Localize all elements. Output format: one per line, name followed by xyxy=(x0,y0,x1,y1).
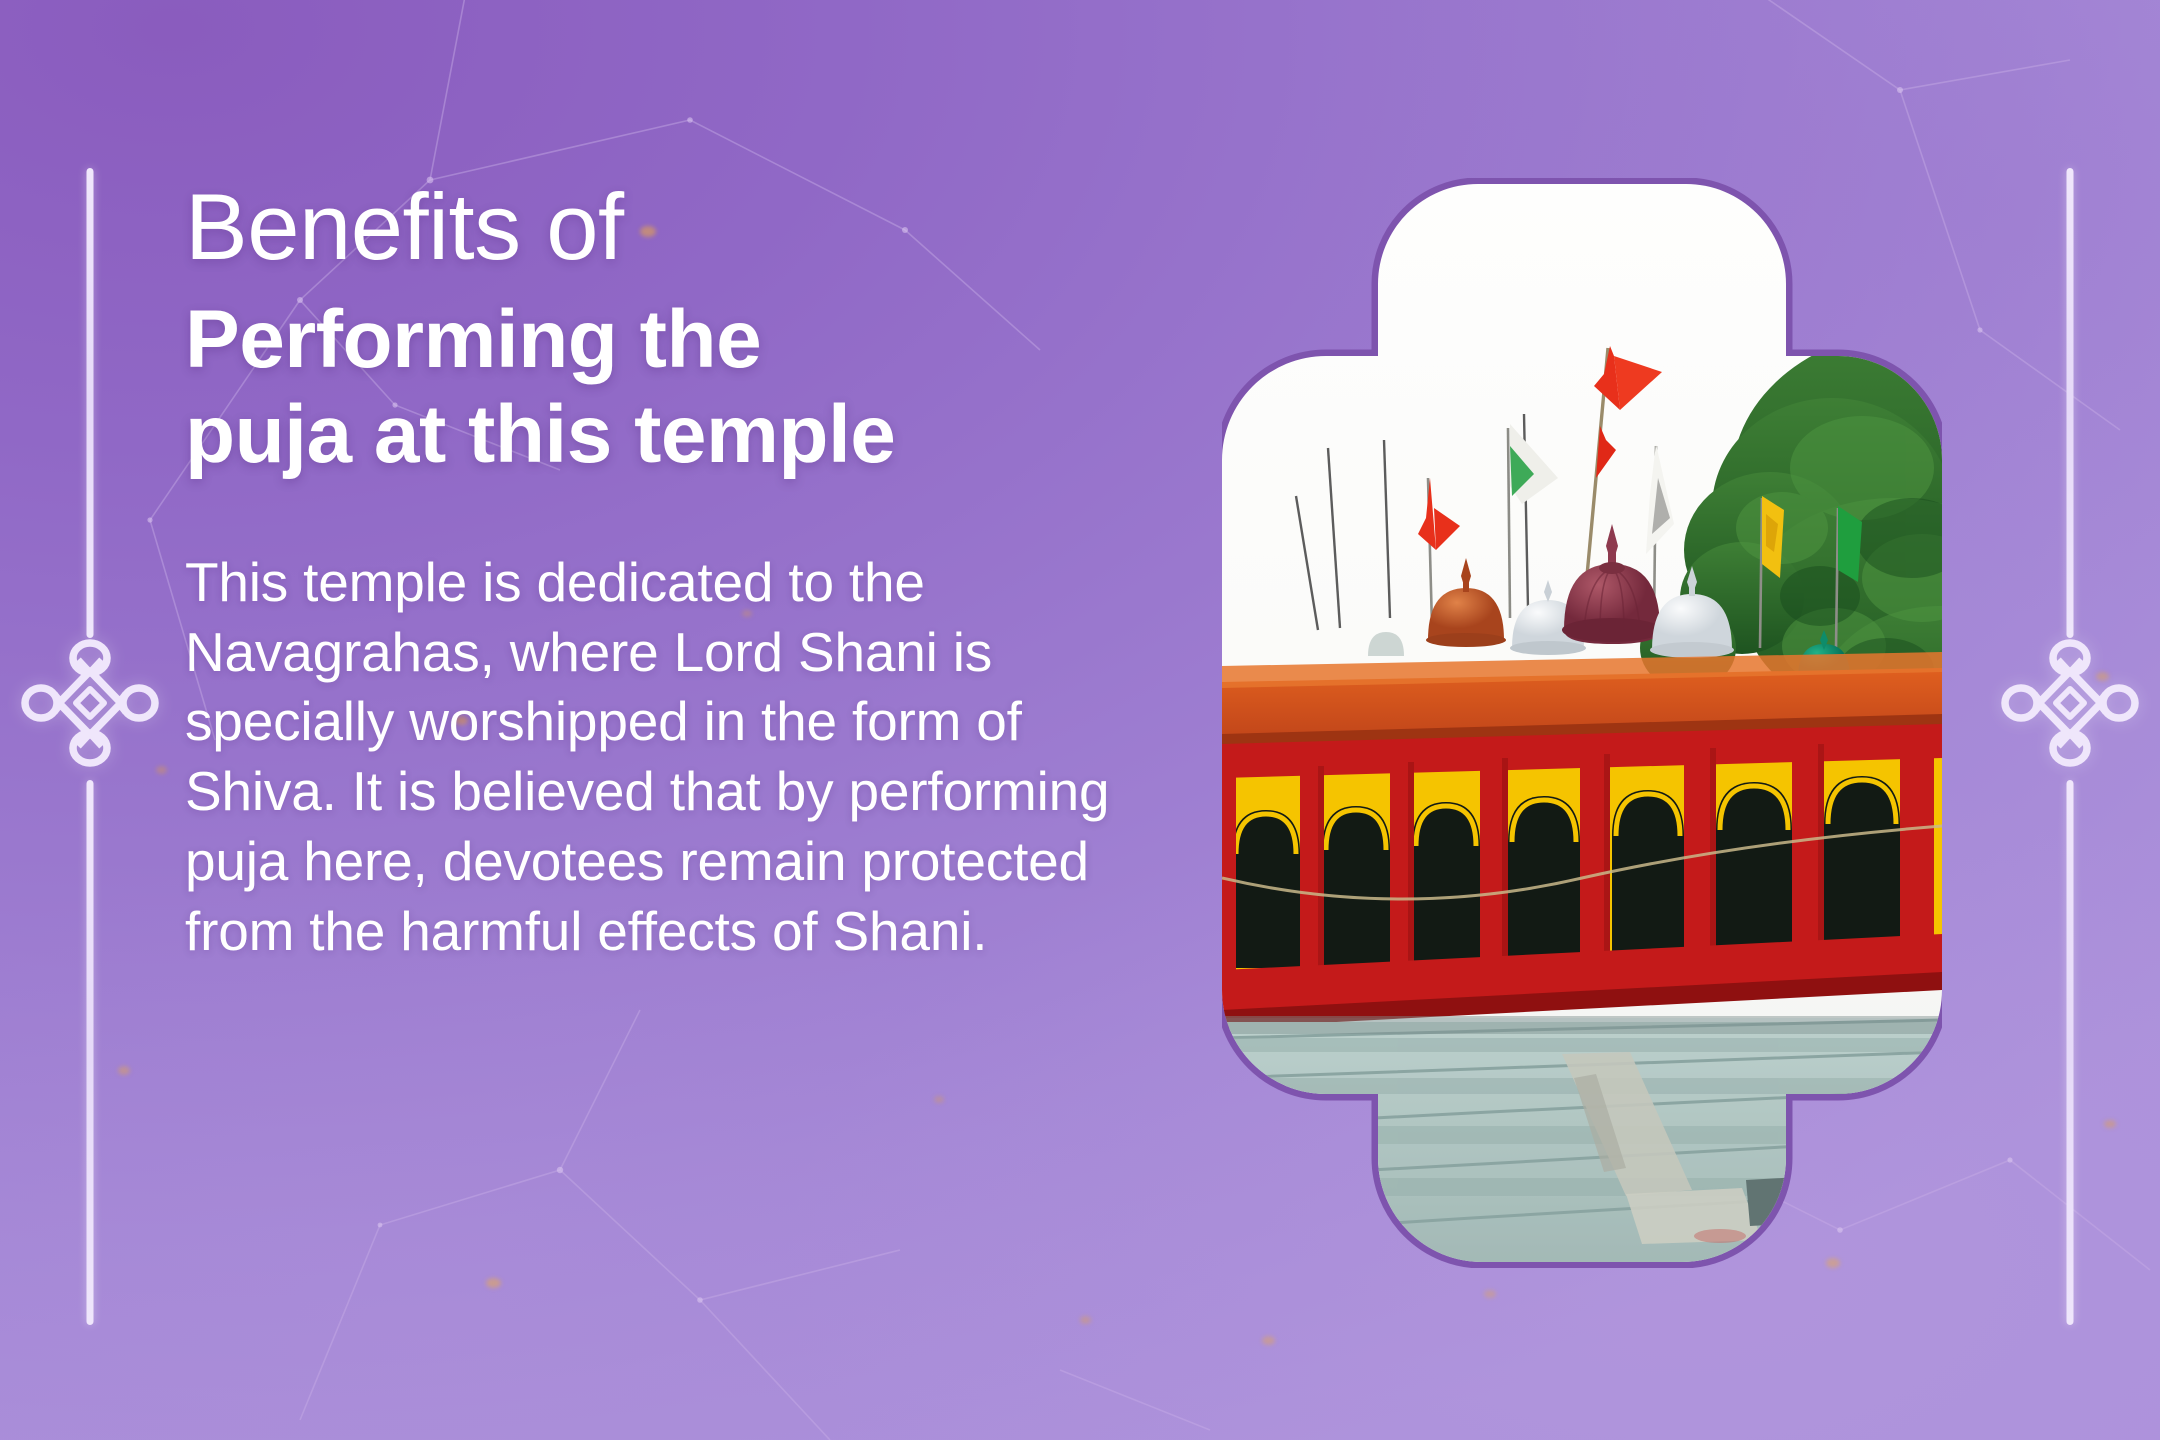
title-line-1: Benefits of xyxy=(185,176,1195,278)
endless-knot-icon xyxy=(1996,638,2144,768)
temple-photo-frame xyxy=(1222,178,1942,1268)
temple-photo xyxy=(1222,178,1942,1268)
body-paragraph: This temple is dedicated to the Navagrah… xyxy=(185,548,1145,967)
divider-line-bottom xyxy=(87,780,94,1325)
title-line-3: puja at this temple xyxy=(185,387,1195,482)
divider-line-bottom xyxy=(2067,780,2074,1325)
divider-line-top xyxy=(87,168,94,638)
page-title: Benefits of Performing the puja at this … xyxy=(185,176,1195,482)
text-column: Benefits of Performing the puja at this … xyxy=(185,176,1195,967)
title-line-2: Performing the xyxy=(185,292,1195,387)
endless-knot-icon xyxy=(16,638,164,768)
right-decor-rail xyxy=(1990,0,2150,1440)
divider-line-top xyxy=(2067,168,2074,638)
left-decor-rail xyxy=(10,0,170,1440)
